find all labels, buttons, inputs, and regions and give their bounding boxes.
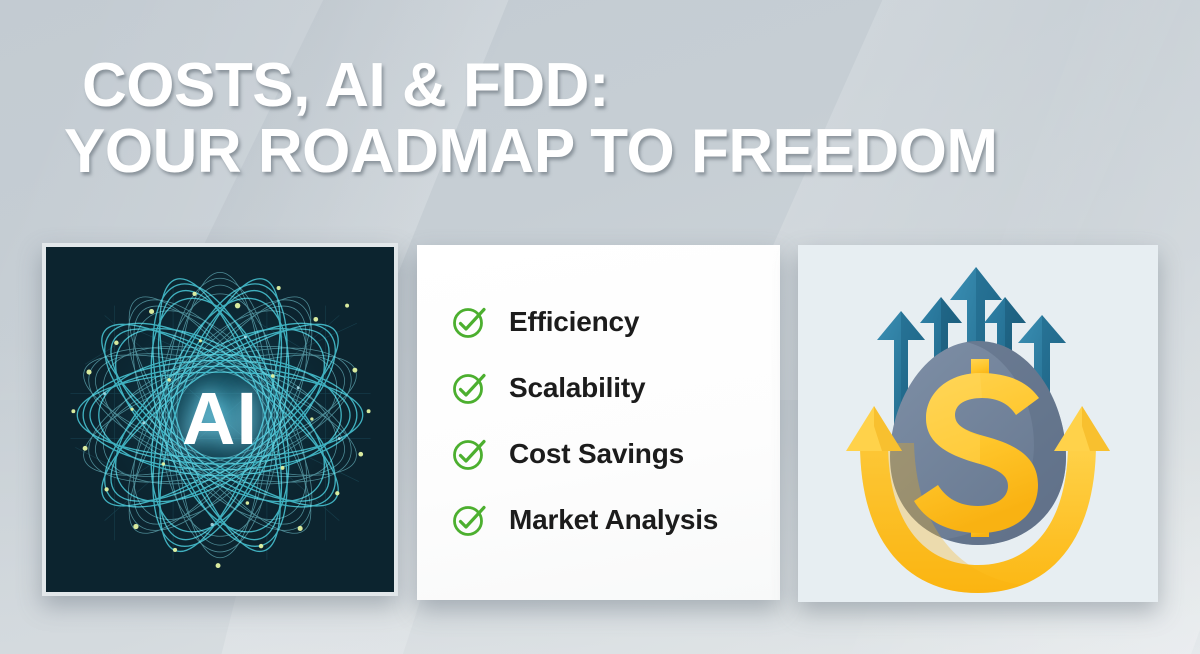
infographic-canvas: COSTS, AI & FDD: YOUR ROADMAP TO FREEDOM: [0, 0, 1200, 654]
title-line-1: COSTS, AI & FDD:: [82, 56, 998, 116]
ai-atom-panel[interactable]: AI: [42, 243, 398, 596]
list-item-label: Efficiency: [509, 306, 639, 338]
page-title: COSTS, AI & FDD: YOUR ROADMAP TO FREEDOM: [82, 56, 998, 182]
title-line-2: YOUR ROADMAP TO FREEDOM: [64, 122, 998, 182]
list-item[interactable]: Efficiency: [417, 289, 780, 355]
benefits-checklist-card[interactable]: Efficiency Scalability Cost Savings: [417, 245, 780, 600]
list-item-label: Scalability: [509, 372, 645, 404]
atom-orbit-graphic: [46, 247, 394, 592]
growth-dollar-graphic: [798, 245, 1158, 602]
check-circle-icon: [451, 501, 489, 539]
list-item[interactable]: Scalability: [417, 355, 780, 421]
list-item[interactable]: Cost Savings: [417, 421, 780, 487]
list-item-label: Market Analysis: [509, 504, 718, 536]
growth-savings-panel[interactable]: [798, 245, 1158, 602]
list-item-label: Cost Savings: [509, 438, 684, 470]
check-circle-icon: [451, 435, 489, 473]
check-circle-icon: [451, 369, 489, 407]
list-item[interactable]: Market Analysis: [417, 487, 780, 553]
check-circle-icon: [451, 303, 489, 341]
